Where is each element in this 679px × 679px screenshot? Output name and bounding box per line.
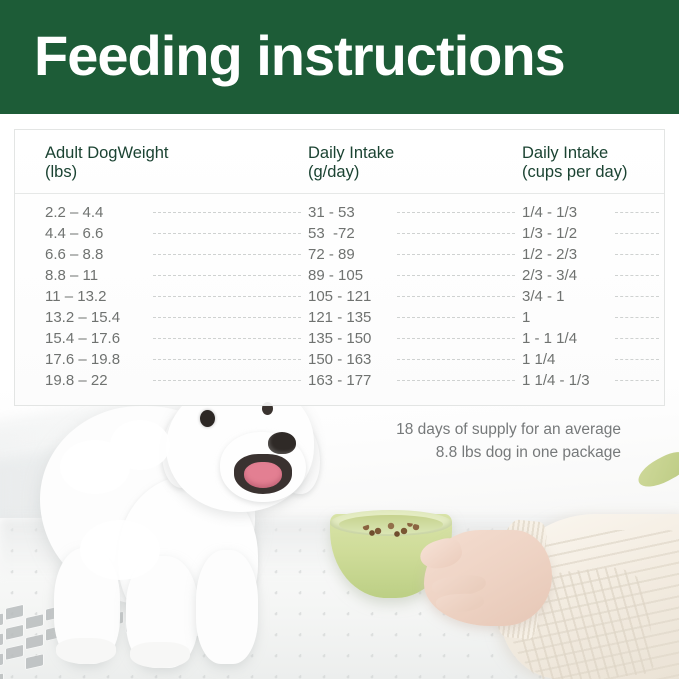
column-header-grams-line1: Daily Intake: [308, 144, 394, 162]
column-header-cups-line2: (cups per day): [522, 163, 627, 182]
cell-cups: 1 - 1 1/4: [522, 328, 577, 349]
dog-fur-tuft: [110, 420, 170, 470]
column-header-weight-line2: (lbs): [45, 163, 169, 182]
page-title: Feeding instructions: [34, 23, 565, 88]
dotted-leader-line: [153, 212, 301, 213]
dotted-leader-line: [397, 233, 515, 234]
cell-cups: 1/4 - 1/3: [522, 202, 577, 223]
feeding-table-card: Adult DogWeight (lbs) Daily Intake (g/da…: [14, 129, 665, 406]
cell-weight: 13.2 – 15.4: [45, 307, 120, 328]
dotted-leader-line: [615, 275, 659, 276]
cell-cups: 1 1/4: [522, 349, 555, 370]
column-header-grams: Daily Intake (g/day): [308, 144, 394, 182]
dotted-leader-line: [397, 254, 515, 255]
dog-illustration: [20, 380, 350, 679]
kibble-food: [360, 522, 426, 538]
table-row: 4.4 – 6.653 -721/3 - 1/2: [15, 223, 664, 244]
cell-grams: 31 - 53: [308, 202, 355, 223]
dotted-leader-line: [153, 275, 301, 276]
cell-grams: 72 - 89: [308, 244, 355, 265]
dog-paw-right: [130, 642, 190, 668]
dog-fur-tuft: [80, 520, 160, 580]
dotted-leader-line: [153, 380, 301, 381]
cell-weight: 8.8 – 11: [45, 265, 98, 286]
cell-grams: 53 -72: [308, 223, 355, 244]
dotted-leader-line: [397, 212, 515, 213]
cell-grams: 150 - 163: [308, 349, 371, 370]
header-banner: Feeding instructions: [0, 0, 679, 114]
dotted-leader-line: [615, 338, 659, 339]
table-header-row: Adult DogWeight (lbs) Daily Intake (g/da…: [15, 130, 664, 194]
cell-cups: 1/2 - 2/3: [522, 244, 577, 265]
dotted-leader-line: [615, 254, 659, 255]
dotted-leader-line: [397, 338, 515, 339]
table-row: 15.4 – 17.6135 - 1501 - 1 1/4: [15, 328, 664, 349]
supply-note: 18 days of supply for an average 8.8 lbs…: [395, 418, 621, 464]
table-row: 6.6 – 8.872 - 891/2 - 2/3: [15, 244, 664, 265]
dog-leg-rear: [196, 550, 258, 664]
dotted-leader-line: [397, 296, 515, 297]
dotted-leader-line: [153, 296, 301, 297]
cell-weight: 2.2 – 4.4: [45, 202, 103, 223]
cell-cups: 1: [522, 307, 530, 328]
cell-cups: 3/4 - 1: [522, 286, 565, 307]
dog-eye-left: [200, 410, 215, 427]
column-header-cups-line1: Daily Intake: [522, 144, 608, 162]
cell-grams: 135 - 150: [308, 328, 371, 349]
cell-weight: 6.6 – 8.8: [45, 244, 103, 265]
cell-grams: 121 - 135: [308, 307, 371, 328]
dog-paw-left: [56, 638, 116, 664]
table-row: 13.2 – 15.4121 - 1351: [15, 307, 664, 328]
cell-weight: 4.4 – 6.6: [45, 223, 103, 244]
dotted-leader-line: [153, 338, 301, 339]
cell-cups: 1 1/4 - 1/3: [522, 370, 590, 391]
dotted-leader-line: [153, 254, 301, 255]
product-infographic: Feeding instructions Adult DogWeight (lb…: [0, 0, 679, 679]
table-row: 19.8 – 22163 - 1771 1/4 - 1/3: [15, 370, 664, 391]
cell-grams: 163 - 177: [308, 370, 371, 391]
dotted-leader-line: [615, 233, 659, 234]
dotted-leader-line: [615, 380, 659, 381]
table-row: 2.2 – 4.431 - 531/4 - 1/3: [15, 202, 664, 223]
dotted-leader-line: [615, 212, 659, 213]
cell-weight: 11 – 13.2: [45, 286, 106, 307]
dotted-leader-line: [397, 380, 515, 381]
table-row: 17.6 – 19.8150 - 1631 1/4: [15, 349, 664, 370]
dotted-leader-line: [615, 359, 659, 360]
table-body: 2.2 – 4.431 - 531/4 - 1/34.4 – 6.653 -72…: [15, 194, 664, 391]
dotted-leader-line: [153, 317, 301, 318]
cell-weight: 15.4 – 17.6: [45, 328, 120, 349]
dotted-leader-line: [615, 317, 659, 318]
dotted-leader-line: [615, 296, 659, 297]
column-header-grams-line2: (g/day): [308, 163, 394, 182]
column-header-weight: Adult DogWeight (lbs): [45, 144, 169, 182]
dotted-leader-line: [397, 275, 515, 276]
cell-cups: 2/3 - 3/4: [522, 265, 577, 286]
dotted-leader-line: [397, 359, 515, 360]
cell-weight: 19.8 – 22: [45, 370, 108, 391]
cell-grams: 105 - 121: [308, 286, 371, 307]
dog-nose: [268, 432, 296, 454]
dog-tongue: [244, 462, 282, 488]
column-header-weight-line1: Adult DogWeight: [45, 144, 169, 162]
table-row: 11 – 13.2105 - 1213/4 - 1: [15, 286, 664, 307]
cell-weight: 17.6 – 19.8: [45, 349, 120, 370]
dotted-leader-line: [397, 317, 515, 318]
column-header-cups: Daily Intake (cups per day): [522, 144, 627, 182]
dotted-leader-line: [153, 233, 301, 234]
dotted-leader-line: [153, 359, 301, 360]
cell-grams: 89 - 105: [308, 265, 363, 286]
table-row: 8.8 – 1189 - 1052/3 - 3/4: [15, 265, 664, 286]
cell-cups: 1/3 - 1/2: [522, 223, 577, 244]
